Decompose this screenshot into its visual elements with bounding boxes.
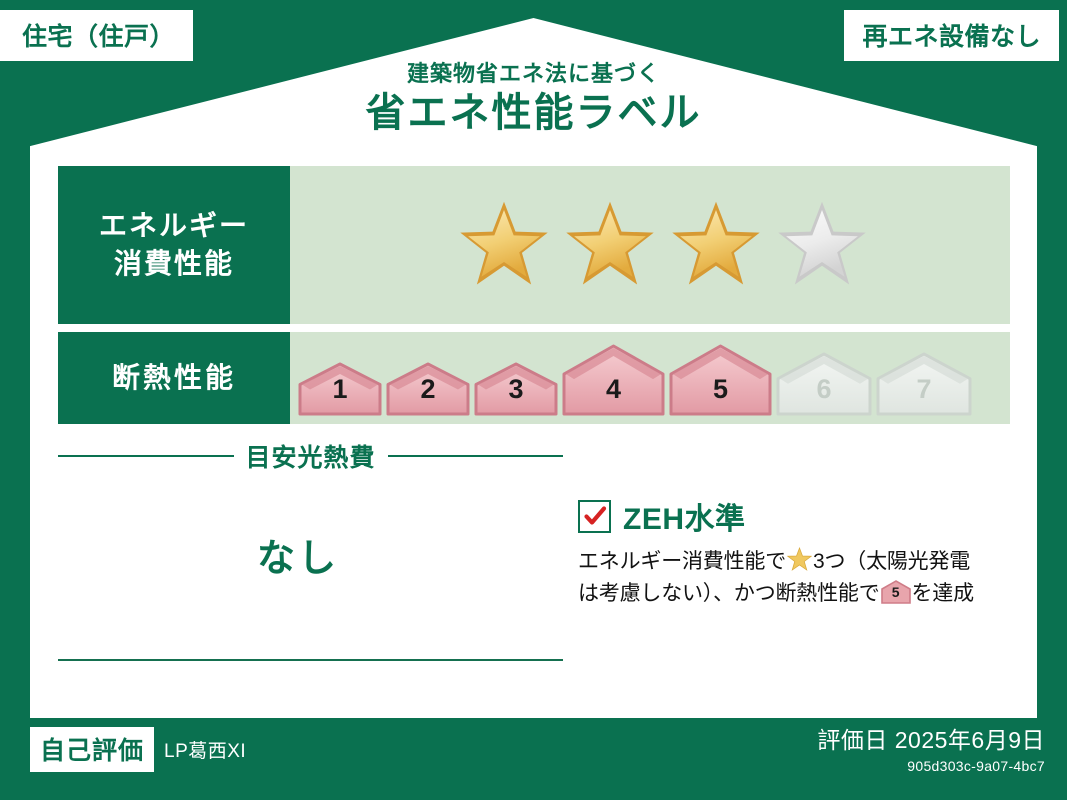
insulation-level-4: 4 — [562, 343, 665, 417]
zeh-checkbox[interactable] — [578, 500, 611, 533]
star-filled-icon — [670, 199, 762, 291]
zeh-description: エネルギー消費性能で 3つ（太陽光発電 は考慮しない）、かつ断熱性能で 5 を達… — [578, 546, 1018, 610]
divider-right — [388, 455, 564, 457]
footer-left: 自己評価 LP葛西XI — [30, 727, 246, 772]
star-rating — [458, 199, 868, 291]
zeh-desc-part2: 3つ（太陽光発電 — [813, 550, 970, 573]
title-subtitle: 建築物省エネ法に基づく — [0, 62, 1067, 86]
site-name: LP葛西XI — [164, 736, 246, 763]
insulation-level-3: 3 — [474, 361, 558, 417]
house-empty-icon — [776, 351, 872, 417]
document-id: 905d303c-9a07-4bc7 — [817, 758, 1045, 774]
energy-performance-row: エネルギー 消費性能 — [58, 166, 1010, 324]
energy-performance-label: 住宅（住戸） 再エネ設備なし 建築物省エネ法に基づく 省エネ性能ラベル エネルギ… — [0, 0, 1067, 800]
zeh-header: ZEH水準 — [578, 494, 1018, 538]
house-empty-icon — [876, 351, 972, 417]
house-filled-icon — [474, 361, 558, 417]
zeh-block: ZEH水準 エネルギー消費性能で 3つ（太陽光発電 は考慮しない）、かつ断熱性能… — [578, 494, 1018, 610]
house-filled-icon — [562, 343, 665, 417]
star-empty-icon — [776, 199, 868, 291]
insulation-level-scale: 1234567 — [298, 332, 972, 424]
building-type-badge: 住宅（住戸） — [0, 10, 193, 61]
page-title: 省エネ性能ラベル — [0, 88, 1067, 138]
star-filled-icon — [458, 199, 550, 291]
insulation-performance-label: 断熱性能 — [58, 332, 290, 424]
energy-performance-body — [290, 166, 1010, 324]
insulation-level-1: 1 — [298, 361, 382, 417]
energy-performance-label: エネルギー 消費性能 — [58, 166, 290, 324]
zeh-desc-part4: を達成 — [912, 582, 974, 605]
insulation-level-2: 2 — [386, 361, 470, 417]
house-level-icon: 5 — [881, 580, 911, 604]
zeh-title: ZEH水準 — [623, 494, 746, 538]
star-icon — [787, 547, 812, 572]
insulation-performance-row: 断熱性能 1234567 — [58, 332, 1010, 424]
energy-label-line2: 消費性能 — [114, 245, 234, 283]
renewable-equipment-badge: 再エネ設備なし — [844, 10, 1059, 61]
utility-cost-header: 目安光熱費 — [58, 438, 563, 474]
evaluation-type-badge: 自己評価 — [30, 727, 154, 772]
energy-label-line1: エネルギー — [99, 207, 249, 245]
house-level-number: 5 — [881, 582, 911, 603]
star-filled-icon — [564, 199, 656, 291]
title-block: 建築物省エネ法に基づく 省エネ性能ラベル — [0, 62, 1067, 138]
footer-right: 評価日 2025年6月9日 905d303c-9a07-4bc7 — [817, 721, 1045, 774]
insulation-level-5: 5 — [669, 343, 772, 417]
house-filled-icon — [298, 361, 382, 417]
insulation-level-7: 7 — [876, 351, 972, 417]
utility-cost-value: なし — [58, 527, 538, 582]
evaluation-date: 評価日 2025年6月9日 — [817, 721, 1045, 755]
utility-cost-underline — [58, 659, 563, 661]
zeh-desc-part1: エネルギー消費性能で — [578, 550, 786, 573]
utility-cost-title: 目安光熱費 — [246, 438, 376, 474]
zeh-desc-part3: は考慮しない）、かつ断熱性能で — [578, 582, 880, 605]
insulation-level-6: 6 — [776, 351, 872, 417]
divider-left — [58, 455, 234, 457]
insulation-performance-body: 1234567 — [290, 332, 1010, 424]
house-filled-icon — [669, 343, 772, 417]
house-filled-icon — [386, 361, 470, 417]
